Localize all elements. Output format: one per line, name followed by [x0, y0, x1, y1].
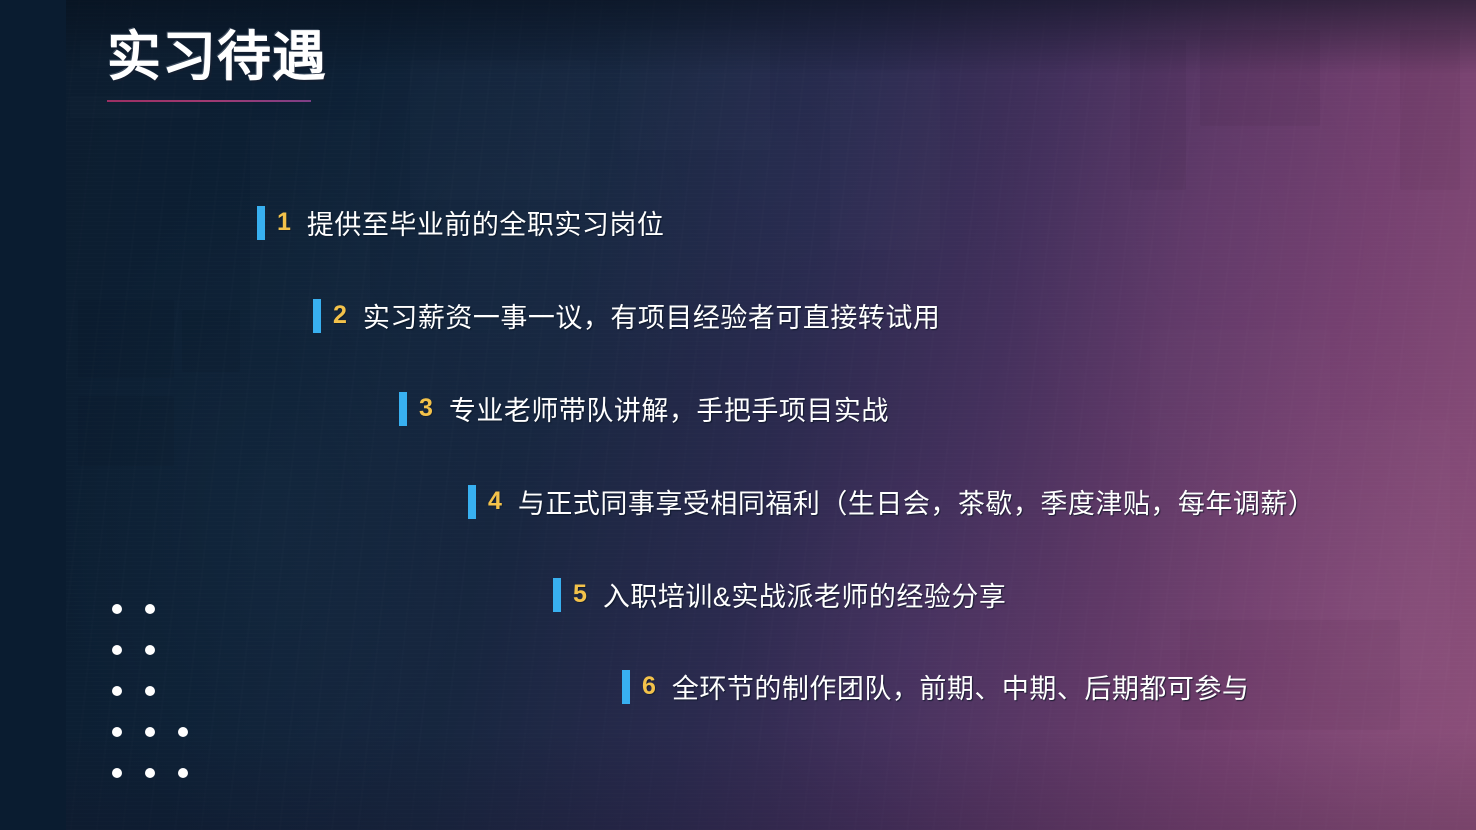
dot-icon: [145, 686, 155, 696]
dot-icon: [112, 686, 122, 696]
dot-icon: [112, 604, 122, 614]
accent-bar-icon: [313, 299, 321, 333]
dot-icon: [178, 768, 188, 778]
list-item-number: 5: [573, 580, 587, 609]
bullet-list: 1 提供至毕业前的全职实习岗位 2 实习薪资一事一议，有项目经验者可直接转试用 …: [0, 0, 1476, 830]
list-item-number: 6: [642, 672, 656, 701]
list-item-number: 1: [277, 208, 291, 237]
accent-bar-icon: [257, 206, 265, 240]
list-item-number: 2: [333, 301, 347, 330]
accent-bar-icon: [399, 392, 407, 426]
dot-grid-row: [112, 711, 211, 752]
accent-bar-icon: [468, 485, 476, 519]
accent-bar-icon: [553, 578, 561, 612]
dot-icon: [145, 768, 155, 778]
decorative-dot-grid: [112, 588, 211, 793]
list-item-label: 与正式同事享受相同福利（生日会，茶歇，季度津贴，每年调薪）: [518, 482, 1316, 521]
list-item-label: 专业老师带队讲解，手把手项目实战: [449, 389, 889, 428]
dot-icon: [178, 727, 188, 737]
dot-grid-row: [112, 752, 211, 793]
list-item: 3 专业老师带队讲解，手把手项目实战: [399, 389, 889, 428]
list-item-label: 全环节的制作团队，前期、中期、后期都可参与: [672, 667, 1250, 706]
list-item-label: 提供至毕业前的全职实习岗位: [307, 203, 665, 242]
list-item-label: 入职培训&实战派老师的经验分享: [603, 575, 1007, 614]
dot-icon: [145, 727, 155, 737]
dot-icon: [112, 768, 122, 778]
list-item: 4 与正式同事享受相同福利（生日会，茶歇，季度津贴，每年调薪）: [468, 482, 1315, 521]
list-item: 6 全环节的制作团队，前期、中期、后期都可参与: [622, 667, 1249, 706]
dot-icon: [145, 604, 155, 614]
list-item-number: 4: [488, 487, 502, 516]
list-item-number: 3: [419, 394, 433, 423]
dot-grid-row: [112, 629, 211, 670]
dot-icon: [145, 645, 155, 655]
dot-grid-row: [112, 670, 211, 711]
dot-icon: [112, 727, 122, 737]
list-item: 2 实习薪资一事一议，有项目经验者可直接转试用: [313, 296, 940, 335]
presentation-slide: 实习待遇 1 提供至毕业前的全职实习岗位 2 实习薪资一事一议，有项目经验者可直…: [0, 0, 1476, 830]
list-item-label: 实习薪资一事一议，有项目经验者可直接转试用: [363, 296, 941, 335]
accent-bar-icon: [622, 670, 630, 704]
list-item: 5 入职培训&实战派老师的经验分享: [553, 575, 1006, 614]
dot-grid-row: [112, 588, 211, 629]
list-item: 1 提供至毕业前的全职实习岗位: [257, 203, 664, 242]
dot-icon: [112, 645, 122, 655]
